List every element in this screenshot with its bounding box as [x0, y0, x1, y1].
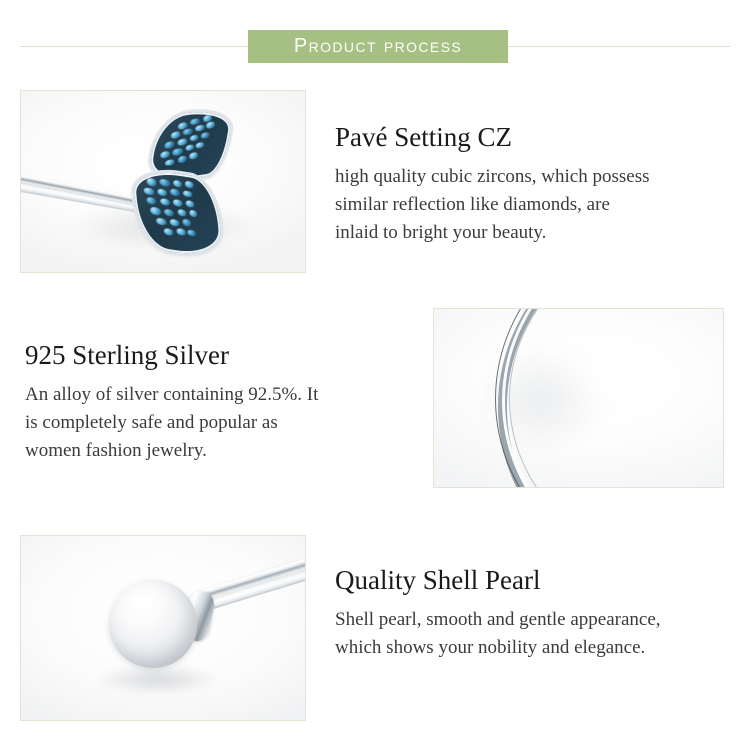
shell-pearl-body: Shell pearl, smooth and gentle appearanc… — [335, 606, 735, 662]
bangle-photo-inner — [434, 309, 723, 487]
body-line: which shows your nobility and elegance. — [335, 634, 735, 662]
silver-bangle-curve-photo — [433, 308, 724, 488]
shell-pearl-bead — [109, 580, 197, 668]
sterling-silver-text-block: 925 Sterling Silver An alloy of silver c… — [25, 340, 425, 465]
tail-fin-lower — [132, 167, 223, 260]
header-title-band: Product process — [248, 30, 508, 63]
shell-pearl-heading: Quality Shell Pearl — [335, 565, 735, 596]
page-title: Product process — [294, 36, 462, 57]
body-line: is completely safe and popular as — [25, 409, 425, 437]
body-line: high quality cubic zircons, which posses… — [335, 163, 735, 191]
pave-gem-cluster-lower — [132, 167, 223, 260]
pearl-drop-shadow — [95, 665, 220, 694]
shell-pearl-text-block: Quality Shell Pearl Shell pearl, smooth … — [335, 565, 735, 662]
body-line: An alloy of silver containing 92.5%. It — [25, 381, 425, 409]
bangle-inner-edge-line — [509, 309, 723, 487]
shell-pearl-photo — [20, 535, 306, 721]
mermaid-tail-pave-photo — [20, 90, 306, 273]
pave-setting-cz-heading: Pavé Setting CZ — [335, 122, 735, 153]
pave-setting-cz-text-block: Pavé Setting CZ high quality cubic zirco… — [335, 122, 735, 247]
body-line: similar reflection like diamonds, are — [335, 191, 735, 219]
body-line: Shell pearl, smooth and gentle appearanc… — [335, 606, 735, 634]
pave-setting-cz-body: high quality cubic zircons, which posses… — [335, 163, 735, 247]
body-line: inlaid to bright your beauty. — [335, 219, 735, 247]
body-line: women fashion jewelry. — [25, 437, 425, 465]
bangle-shape-wrap — [434, 309, 723, 487]
pearl-photo-inner — [21, 536, 305, 720]
sterling-silver-body: An alloy of silver containing 92.5%. It … — [25, 381, 425, 465]
mermaid-tail-photo-inner — [21, 91, 305, 272]
page-header: Product process — [0, 0, 750, 88]
sterling-silver-heading: 925 Sterling Silver — [25, 340, 425, 371]
